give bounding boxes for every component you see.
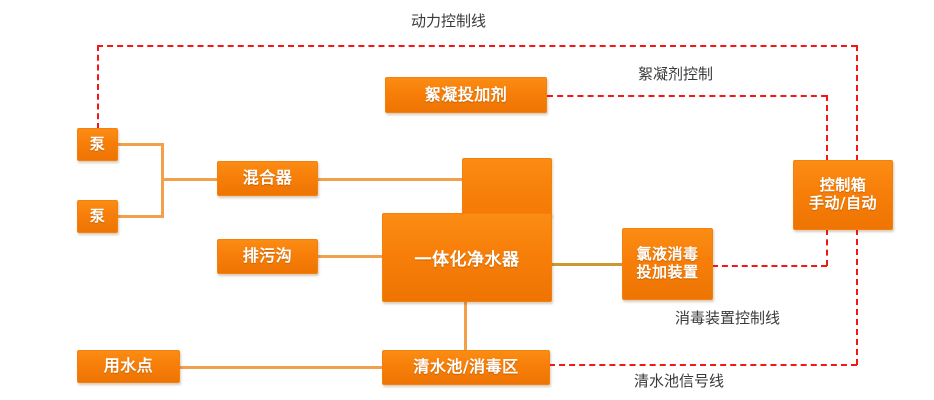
flocculant-control-line-horizontal [547,95,827,97]
node-control-box[interactable]: 控制箱 手动/自动 [793,160,893,230]
power-control-line-vertical-left [97,45,99,129]
node-chlorine-disinfection-doser-label-line1: 氯液消毒 [636,246,698,264]
disinfection-control-line-vertical [826,229,828,266]
node-control-box-label-line2: 手动/自动 [809,195,877,213]
line-purifier-to-cleartank [464,299,467,351]
power-control-line-vertical-right [856,45,858,161]
line-purifier-to-chlorine [549,263,623,266]
label-disinfection-control-line: 消毒装置控制线 [675,307,780,328]
cleartank-signal-line-vertical [856,229,858,365]
label-power-control-line: 动力控制线 [411,10,486,31]
node-drain-ditch[interactable]: 排污沟 [217,239,318,274]
node-flocculant-doser[interactable]: 絮凝投加剂 [385,77,547,113]
node-mixer-label: 混合器 [243,169,293,188]
line-drain-to-purifier [318,255,384,258]
node-pump-2-label: 泵 [90,208,106,226]
node-control-box-label-line1: 控制箱 [820,177,867,195]
node-integrated-water-purifier[interactable]: 一体化净水器 [382,158,550,300]
purifier-main-section: 一体化净水器 [382,213,552,302]
diagram-canvas: 泵 泵 混合器 排污沟 絮凝投加剂 一体化净水器 氯液消毒 投加装置 清水池/消… [0,0,934,400]
disinfection-control-line-horizontal [712,265,827,267]
node-pump-1-label: 泵 [90,136,106,154]
node-water-use-point-label: 用水点 [104,357,154,376]
node-drain-ditch-label: 排污沟 [243,247,293,266]
line-pump2-out [118,215,164,218]
line-bracket-to-mixer [161,178,218,181]
node-clear-water-tank-label: 清水池/消毒区 [413,358,518,377]
node-chlorine-disinfection-doser-label-line2: 投加装置 [636,264,698,282]
node-flocculant-doser-label: 絮凝投加剂 [425,86,508,105]
line-usepoint-to-cleartank [180,366,383,369]
label-flocculant-control: 絮凝剂控制 [638,63,713,84]
flocculant-control-line-vertical [826,95,828,161]
cleartank-signal-line-horizontal [549,364,857,366]
node-mixer[interactable]: 混合器 [217,161,318,196]
line-pump1-out [118,143,164,146]
node-chlorine-disinfection-doser[interactable]: 氯液消毒 投加装置 [622,228,713,300]
node-pump-2[interactable]: 泵 [77,200,118,233]
node-clear-water-tank[interactable]: 清水池/消毒区 [382,350,550,385]
node-pump-1[interactable]: 泵 [77,128,118,161]
label-cleartank-signal-line: 清水池信号线 [634,370,724,391]
node-water-use-point[interactable]: 用水点 [77,350,180,383]
purifier-upper-section [462,158,552,217]
node-integrated-water-purifier-label: 一体化净水器 [415,245,520,270]
power-control-line-horizontal-top [97,45,857,47]
